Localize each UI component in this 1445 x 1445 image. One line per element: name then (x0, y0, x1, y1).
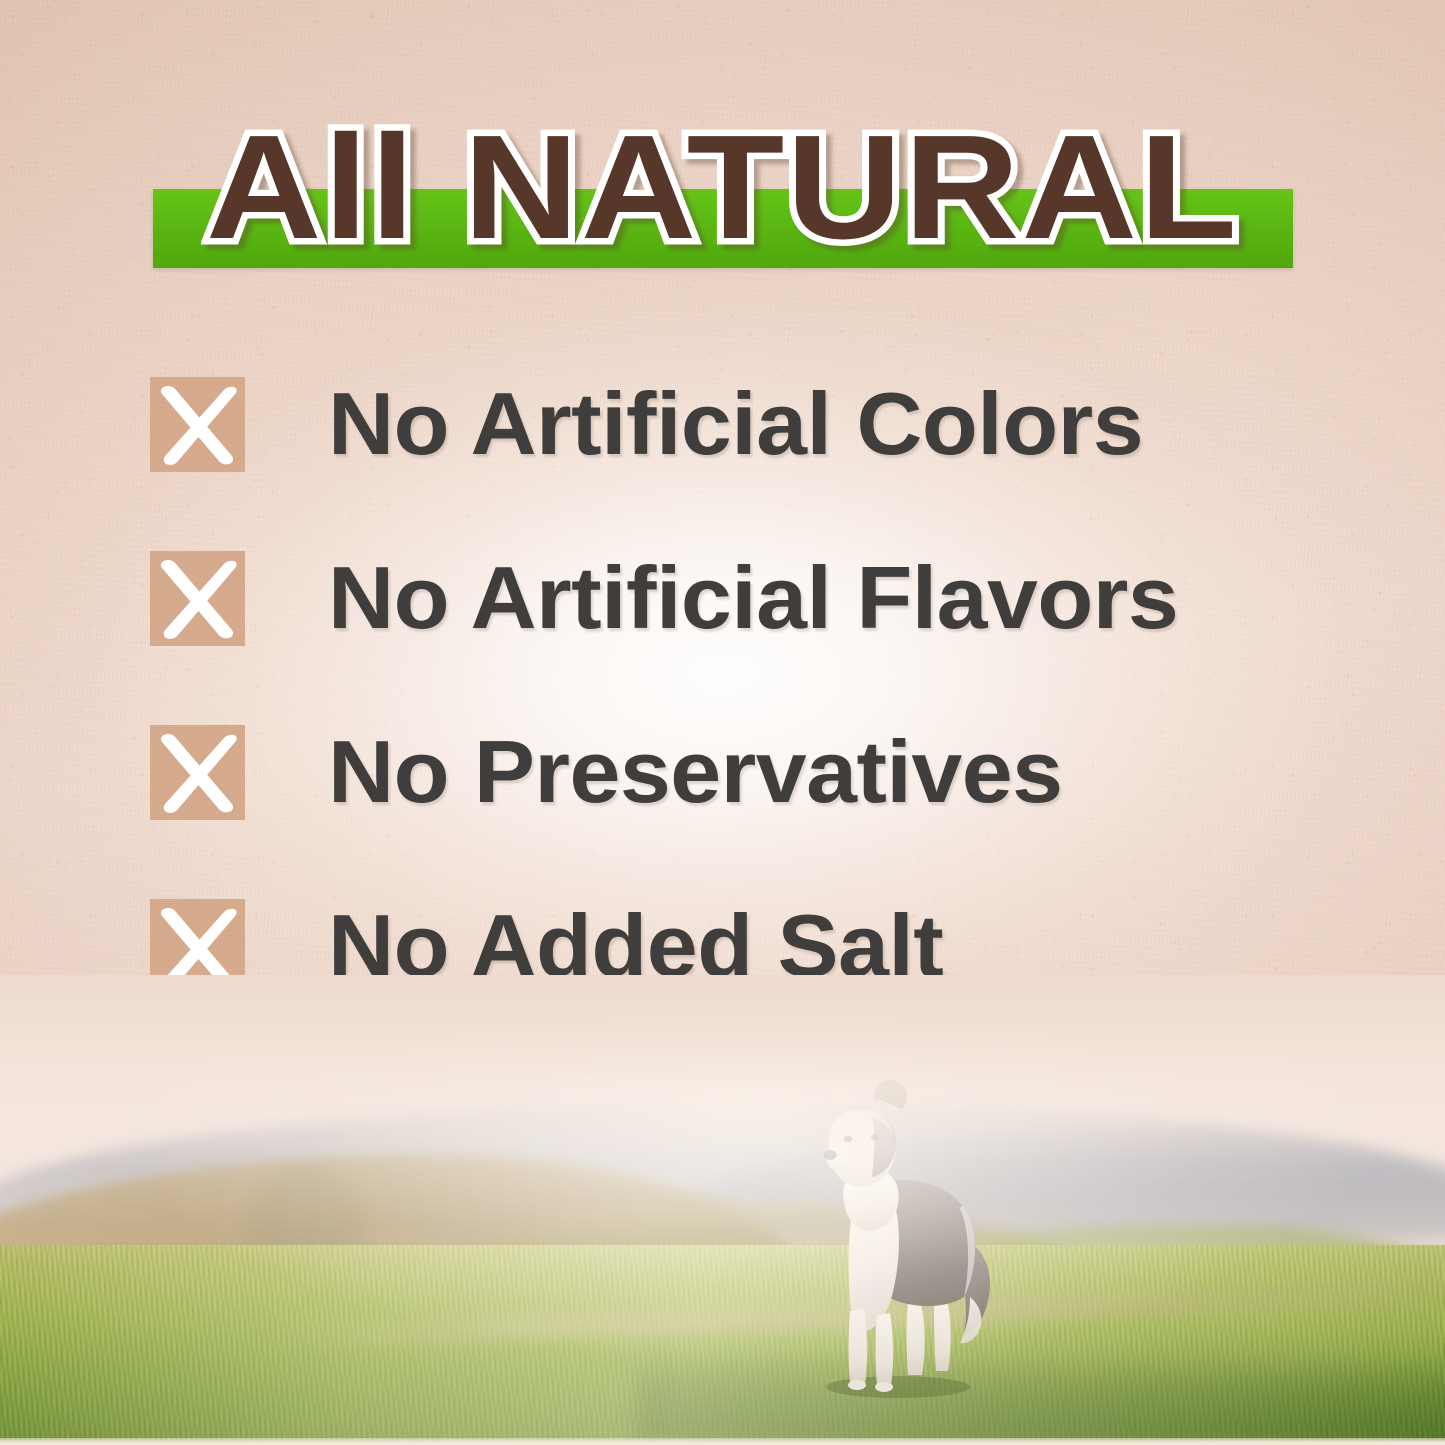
feature-item-label: No Preservatives (328, 724, 1062, 820)
x-mark-icon (150, 377, 245, 472)
feature-item-label: No Artificial Colors (328, 376, 1143, 472)
feature-item: No Artificial Flavors (150, 546, 1330, 650)
landscape-photo (0, 975, 1445, 1445)
grass-sunlight (0, 1245, 1445, 1445)
all-natural-product-graphic: All NATURAL No Artificial Colors No Arti… (0, 0, 1445, 1445)
x-mark-icon (150, 551, 245, 646)
x-mark-icon (150, 725, 245, 820)
title-banner: All NATURAL (0, 108, 1445, 288)
feature-list: No Artificial Colors No Artificial Flavo… (150, 372, 1330, 998)
banner-title-text: All NATURAL (0, 108, 1445, 268)
dog-border-collie (770, 1069, 1040, 1409)
feature-item: No Artificial Colors (150, 372, 1330, 476)
feature-item: No Preservatives (150, 720, 1330, 824)
feature-item-label: No Artificial Flavors (328, 550, 1178, 646)
